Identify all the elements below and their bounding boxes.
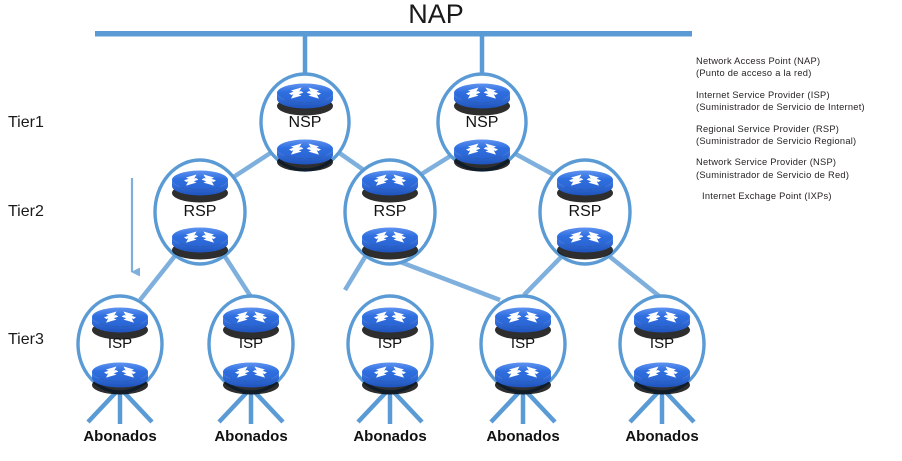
router-icon-isp4-bottom [495,363,551,395]
legend-entry-nap: Network Access Point (NAP) (Punto de acc… [696,55,902,80]
legend-entry-isp: Internet Service Provider (ISP) (Suminis… [696,89,902,114]
router-icon-isp1-bottom [92,363,148,395]
customers-label-2: Abonados [191,428,311,445]
customers-label-5: Abonados [602,428,722,445]
tier-label-2: Tier2 [8,203,44,221]
legend-entry-nap-es: (Punto de acceso a la red) [696,67,902,79]
rsp-node-3-label: RSP [555,203,615,221]
link-nsp2-rsp3 [512,152,556,176]
isp-node-5-label: ISP [632,335,692,352]
link-nsp1-rsp1 [232,152,272,178]
router-icon-nsp1-top [277,84,333,116]
router-icon-rsp2-top [362,171,418,203]
legend-entry-rsp-es: (Suministrador de Servicio Regional) [696,135,902,147]
legend-entry-ixp-en: Internet Exchage Point (IXPs) [702,190,902,202]
router-icon-nsp2-bottom [454,140,510,172]
isp-node-2-label: ISP [221,335,281,352]
router-icon-rsp3-top [557,171,613,203]
page-title: NAP [336,0,536,30]
legend-entry-rsp: Regional Service Provider (RSP) (Suminis… [696,123,902,148]
link-rsp1-isp1 [140,252,178,300]
router-icon-nsp2-top [454,84,510,116]
legend-entry-nsp-es: (Suministrador de Servicio de Red) [696,169,902,181]
isp-node-3-label: ISP [360,335,420,352]
legend-entry-nsp: Network Service Provider (NSP) (Suminist… [696,156,902,181]
nsp-node-2-label: NSP [452,114,512,132]
legend-entry-isp-es: (Suministrador de Servicio de Internet) [696,101,902,113]
link-rsp3-isp5 [604,252,664,300]
link-rsp3-isp4 [524,252,566,295]
network-diagram-canvas: NAP Tier1 Tier2 Tier3 NSP NSP RSP RSP RS… [0,0,902,461]
router-icon-rsp3-bottom [557,228,613,260]
legend-entry-nap-en: Network Access Point (NAP) [696,55,902,67]
isp-node-4-label: ISP [493,335,553,352]
tier-label-3: Tier3 [8,331,44,349]
router-icon-nsp1-bottom [277,140,333,172]
rsp-node-1-label: RSP [170,203,230,221]
link-rsp1-isp2 [222,252,253,300]
router-icon-isp5-bottom [634,363,690,395]
legend-entry-rsp-en: Regional Service Provider (RSP) [696,123,902,135]
isp-node-1-label: ISP [90,335,150,352]
router-icon-rsp2-bottom [362,228,418,260]
rsp-node-2-label: RSP [360,203,420,221]
router-icon-isp2-bottom [223,363,279,395]
router-icon-rsp1-bottom [172,228,228,260]
customers-label-1: Abonados [60,428,180,445]
legend: Network Access Point (NAP) (Punto de acc… [696,55,902,212]
legend-entry-isp-en: Internet Service Provider (ISP) [696,89,902,101]
customers-label-4: Abonados [463,428,583,445]
link-rsp2-isp3 [345,252,368,290]
customers-label-3: Abonados [330,428,450,445]
router-icon-rsp1-top [172,171,228,203]
nap-backbone-bar [95,31,692,37]
link-nsp2-rsp2 [420,155,452,175]
legend-entry-ixp: Internet Exchage Point (IXPs) [696,190,902,202]
tier-label-1: Tier1 [8,114,44,132]
nsp-node-1-label: NSP [275,114,335,132]
legend-entry-nsp-en: Network Service Provider (NSP) [696,156,902,168]
router-icon-isp3-bottom [362,363,418,395]
